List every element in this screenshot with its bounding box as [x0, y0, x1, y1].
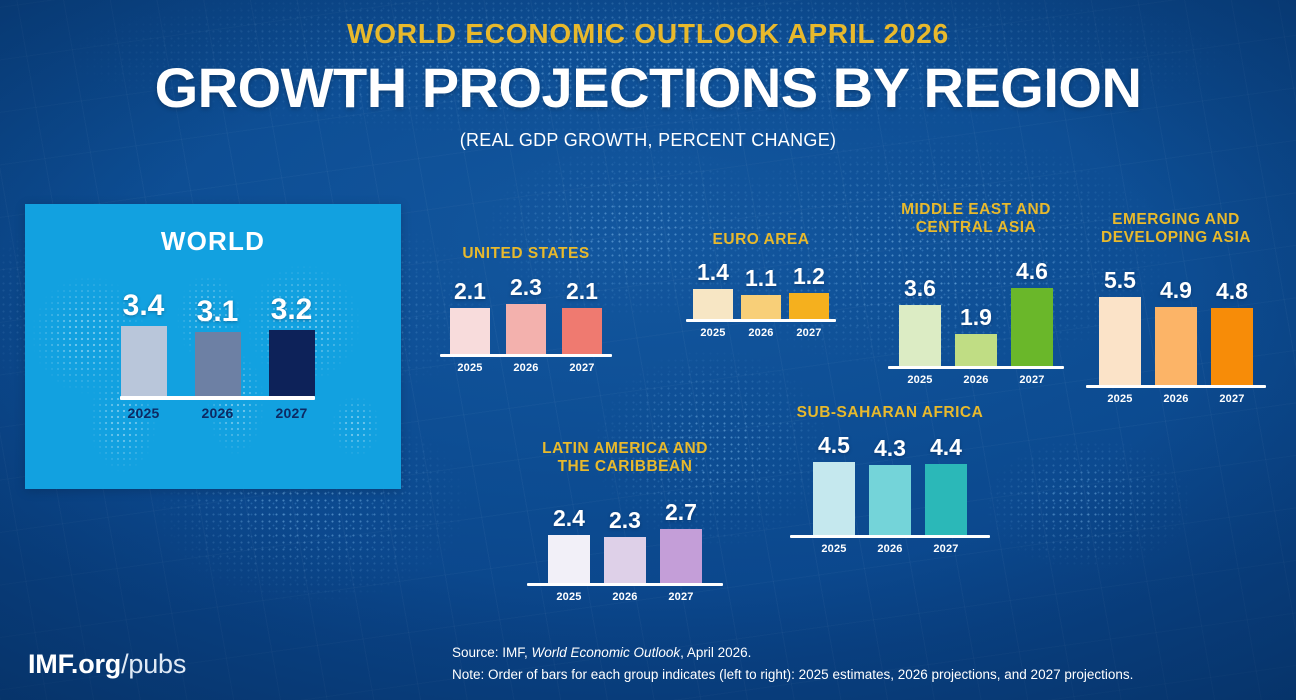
chart-euro-area-bars: 1.41.11.2: [686, 261, 836, 319]
bar-rect: [741, 295, 781, 319]
bar-value-label: 2.7: [665, 501, 697, 524]
panel-world-title: WORLD: [25, 226, 401, 257]
chart-emerging-developing-asia-ticks: 202520262027: [1086, 388, 1266, 405]
axis-tick-label: 2027: [925, 543, 967, 555]
chart-emerging-developing-asia: 5.54.94.8 202520262027: [1086, 269, 1266, 405]
bar-value-label: 3.6: [904, 277, 936, 300]
source-publication: World Economic Outlook: [532, 645, 681, 660]
bar-rect: [562, 308, 602, 354]
bar-value-label: 2.3: [510, 276, 542, 299]
bar-value-label: 2.1: [566, 280, 598, 303]
panel-title-line-1: EMERGING AND: [1086, 211, 1266, 229]
bar-column: 2.7: [660, 501, 702, 583]
header: WORLD ECONOMIC OUTLOOK APRIL 2026 GROWTH…: [0, 0, 1296, 151]
source-prefix: Source: IMF,: [452, 645, 532, 660]
panel-emerging-developing-asia: EMERGING AND DEVELOPING ASIA 5.54.94.8 2…: [1086, 211, 1266, 405]
bar-column: 4.4: [925, 436, 967, 535]
bar-rect: [660, 529, 702, 583]
bar-value-label: 4.8: [1216, 280, 1248, 303]
bar-column: 4.3: [869, 437, 911, 535]
chart-euro-area-ticks: 202520262027: [686, 322, 836, 339]
bar-value-label: 3.2: [271, 295, 313, 325]
panel-sub-saharan-africa-title: SUB-SAHARAN AFRICA: [790, 404, 990, 422]
panel-title-line-2: THE CARIBBEAN: [527, 458, 723, 476]
chart-latin-america-caribbean-bars: 2.42.32.7: [527, 501, 723, 583]
source-suffix: , April 2026.: [680, 645, 751, 660]
bar-value-label: 1.4: [697, 261, 729, 284]
panel-title-line-1: LATIN AMERICA AND: [527, 440, 723, 458]
bar-value-label: 2.4: [553, 507, 585, 530]
bar-rect: [869, 465, 911, 535]
bar-rect: [506, 304, 546, 354]
bar-column: 2.1: [562, 280, 602, 354]
bar-rect: [195, 332, 241, 396]
axis-tick-label: 2027: [1211, 393, 1253, 405]
panel-euro-area: EURO AREA 1.41.11.2 202520262027: [686, 231, 836, 339]
source-notes: Source: IMF, World Economic Outlook, Apr…: [452, 642, 1133, 686]
bar-value-label: 1.2: [793, 265, 825, 288]
bar-rect: [548, 535, 590, 583]
axis-tick-label: 2027: [269, 405, 315, 421]
bar-column: 2.1: [450, 280, 490, 354]
bar-rect: [813, 462, 855, 535]
axis-tick-label: 2025: [450, 362, 490, 374]
chart-latin-america-caribbean-ticks: 202520262027: [527, 586, 723, 603]
bar-rect: [1011, 288, 1053, 366]
panel-middle-east-central-asia-title: MIDDLE EAST AND CENTRAL ASIA: [888, 201, 1064, 238]
panel-title-line-2: DEVELOPING ASIA: [1086, 229, 1266, 247]
bar-rect: [955, 334, 997, 366]
bar-value-label: 4.3: [874, 437, 906, 460]
chart-latin-america-caribbean: 2.42.32.7 202520262027: [527, 501, 723, 603]
axis-tick-label: 2026: [195, 405, 241, 421]
bar-column: 3.4: [121, 291, 167, 396]
bar-rect: [450, 308, 490, 354]
bar-rect: [269, 330, 315, 396]
panel-latin-america-caribbean: LATIN AMERICA AND THE CARIBBEAN 2.42.32.…: [527, 440, 723, 603]
panel-sub-saharan-africa: SUB-SAHARAN AFRICA 4.54.34.4 20252026202…: [790, 404, 990, 555]
axis-tick-label: 2027: [562, 362, 602, 374]
chart-united-states-bars: 2.12.32.1: [440, 276, 612, 354]
axis-tick-label: 2026: [741, 327, 781, 339]
panel-title-line-2: CENTRAL ASIA: [888, 219, 1064, 237]
bar-value-label: 2.3: [609, 509, 641, 532]
chart-middle-east-central-asia: 3.61.94.6 202520262027: [888, 260, 1064, 386]
chart-emerging-developing-asia-bars: 5.54.94.8: [1086, 269, 1266, 385]
bar-column: 3.2: [269, 295, 315, 396]
panel-united-states: UNITED STATES 2.12.32.1 202520262027: [440, 245, 612, 374]
axis-tick-label: 2026: [506, 362, 546, 374]
chart-world-bars: 3.43.13.2: [120, 291, 315, 396]
bar-rect: [925, 464, 967, 535]
panel-emerging-developing-asia-title: EMERGING AND DEVELOPING ASIA: [1086, 211, 1266, 248]
imf-logo-bold: IMF.org: [28, 649, 121, 679]
axis-tick-label: 2025: [548, 591, 590, 603]
bar-value-label: 1.9: [960, 306, 992, 329]
bar-column: 2.3: [604, 509, 646, 583]
chart-united-states-ticks: 202520262027: [440, 357, 612, 374]
axis-tick-label: 2025: [899, 374, 941, 386]
panel-euro-area-title: EURO AREA: [686, 231, 836, 249]
axis-tick-label: 2025: [813, 543, 855, 555]
bar-column: 2.4: [548, 507, 590, 583]
axis-tick-label: 2025: [693, 327, 733, 339]
page-title: GROWTH PROJECTIONS BY REGION: [0, 59, 1296, 116]
bar-column: 4.5: [813, 434, 855, 535]
note-line: Note: Order of bars for each group indic…: [452, 664, 1133, 686]
axis-tick-label: 2026: [604, 591, 646, 603]
bar-column: 2.3: [506, 276, 546, 354]
imf-logo-light: /pubs: [121, 649, 186, 679]
page-subtitle: (REAL GDP GROWTH, PERCENT CHANGE): [0, 130, 1296, 151]
chart-sub-saharan-africa-bars: 4.54.34.4: [790, 434, 990, 535]
chart-sub-saharan-africa: 4.54.34.4 202520262027: [790, 434, 990, 555]
panel-middle-east-central-asia: MIDDLE EAST AND CENTRAL ASIA 3.61.94.6 2…: [888, 201, 1064, 386]
bar-rect: [693, 289, 733, 319]
bar-column: 3.6: [899, 277, 941, 366]
bar-column: 1.1: [741, 267, 781, 319]
axis-tick-label: 2026: [1155, 393, 1197, 405]
bar-column: 1.9: [955, 306, 997, 366]
axis-tick-label: 2027: [1011, 374, 1053, 386]
chart-sub-saharan-africa-ticks: 202520262027: [790, 538, 990, 555]
bar-rect: [121, 326, 167, 396]
bar-column: 5.5: [1099, 269, 1141, 385]
axis-tick-label: 2027: [789, 327, 829, 339]
panel-united-states-title: UNITED STATES: [440, 245, 612, 263]
bar-rect: [1155, 307, 1197, 385]
bar-column: 4.8: [1211, 280, 1253, 385]
bar-column: 1.4: [693, 261, 733, 319]
axis-tick-label: 2026: [955, 374, 997, 386]
bar-column: 4.6: [1011, 260, 1053, 366]
bar-value-label: 4.5: [818, 434, 850, 457]
eyebrow-title: WORLD ECONOMIC OUTLOOK APRIL 2026: [0, 18, 1296, 50]
axis-tick-label: 2025: [1099, 393, 1141, 405]
chart-middle-east-central-asia-bars: 3.61.94.6: [888, 260, 1064, 366]
axis-tick-label: 2026: [869, 543, 911, 555]
chart-middle-east-central-asia-ticks: 202520262027: [888, 369, 1064, 386]
chart-world-ticks: 202520262027: [120, 400, 315, 421]
panel-latin-america-caribbean-title: LATIN AMERICA AND THE CARIBBEAN: [527, 440, 723, 477]
bar-value-label: 4.4: [930, 436, 962, 459]
bar-value-label: 3.4: [123, 291, 165, 321]
bar-rect: [1099, 297, 1141, 385]
bar-value-label: 2.1: [454, 280, 486, 303]
bar-value-label: 4.9: [1160, 279, 1192, 302]
axis-tick-label: 2025: [121, 405, 167, 421]
bar-rect: [1211, 308, 1253, 385]
panel-title-line-1: MIDDLE EAST AND: [888, 201, 1064, 219]
bar-rect: [604, 537, 646, 583]
bar-column: 4.9: [1155, 279, 1197, 385]
source-line: Source: IMF, World Economic Outlook, Apr…: [452, 642, 1133, 664]
bar-rect: [789, 293, 829, 319]
panel-world: WORLD 3.43.13.2 202520262027: [25, 204, 401, 489]
chart-euro-area: 1.41.11.2 202520262027: [686, 261, 836, 339]
bar-rect: [899, 305, 941, 366]
chart-united-states: 2.12.32.1 202520262027: [440, 276, 612, 374]
bar-column: 3.1: [195, 297, 241, 396]
axis-tick-label: 2027: [660, 591, 702, 603]
bar-column: 1.2: [789, 265, 829, 319]
bar-value-label: 4.6: [1016, 260, 1048, 283]
bar-value-label: 3.1: [197, 297, 239, 327]
bar-value-label: 5.5: [1104, 269, 1136, 292]
chart-world: 3.43.13.2 202520262027: [120, 291, 315, 421]
bar-value-label: 1.1: [745, 267, 777, 290]
imf-logo[interactable]: IMF.org/pubs: [28, 649, 186, 680]
